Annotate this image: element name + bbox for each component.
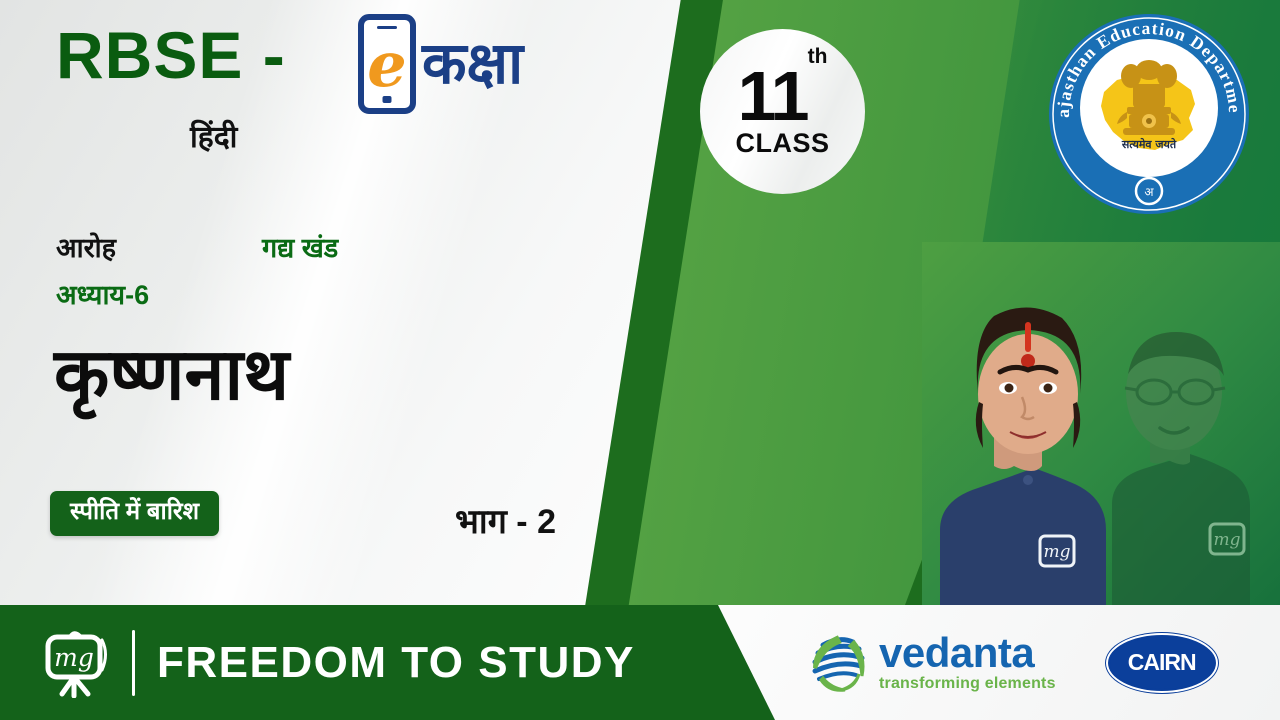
vedanta-wordmark: vedanta transforming elements xyxy=(879,633,1056,692)
vedanta-globe-icon xyxy=(807,632,869,694)
mg-logo-text: mg xyxy=(54,643,94,672)
class-ordinal-suffix: th xyxy=(808,45,828,68)
section-name: गद्य खंड xyxy=(262,228,338,265)
rajasthan-education-department-seal: सत्यमेव जयते अ Rajasthan Education Depar… xyxy=(1043,8,1255,220)
mg-board-logo-icon: mg xyxy=(40,628,114,698)
svg-text:mg: mg xyxy=(1213,530,1240,550)
letter-e-glyph: e xyxy=(367,34,406,96)
banner-tagline: FREEDOM TO STUDY xyxy=(157,641,635,685)
cairn-name: CAIRN xyxy=(1128,649,1196,676)
instructor-photos: mg mg xyxy=(922,242,1280,605)
ekaksha-logo: e कक्षा xyxy=(358,14,523,114)
brand-banner: mg FREEDOM TO STUDY xyxy=(0,605,800,720)
chapter-number: अध्याय-6 xyxy=(56,275,149,312)
topic-badge: स्पीति में बारिश xyxy=(50,491,219,536)
seal-motto: सत्यमेव जयते xyxy=(1121,137,1177,151)
vedanta-tagline: transforming elements xyxy=(879,676,1056,692)
phone-speaker-icon xyxy=(377,26,397,29)
part-label: भाग - 2 xyxy=(455,497,556,543)
class-number: 11th xyxy=(738,66,828,128)
slide-canvas: RBSE - e कक्षा हिंदी आरोह गद्य खंड अध्या… xyxy=(0,0,1280,720)
seal-roundel-glyph: अ xyxy=(1144,185,1154,199)
svg-text:mg: mg xyxy=(1043,542,1070,562)
cairn-logo: CAIRN xyxy=(1108,635,1216,691)
banner-divider xyxy=(132,630,135,696)
lesson-title: कृष्णनाथ xyxy=(54,338,289,414)
book-name: आरोह xyxy=(56,228,116,265)
class-badge: 11th CLASS xyxy=(700,29,865,194)
vedanta-name: vedanta xyxy=(879,633,1056,673)
class-number-value: 11 xyxy=(738,57,808,135)
platform-name: कक्षा xyxy=(422,35,523,93)
subject-label: हिंदी xyxy=(190,123,237,153)
board-title: RBSE - xyxy=(56,22,286,88)
phone-home-button-icon xyxy=(383,96,392,103)
smartphone-icon: e xyxy=(358,14,416,114)
sponsor-strip: vedanta transforming elements CAIRN xyxy=(775,605,1280,720)
vedanta-logo: vedanta transforming elements xyxy=(807,632,1056,694)
